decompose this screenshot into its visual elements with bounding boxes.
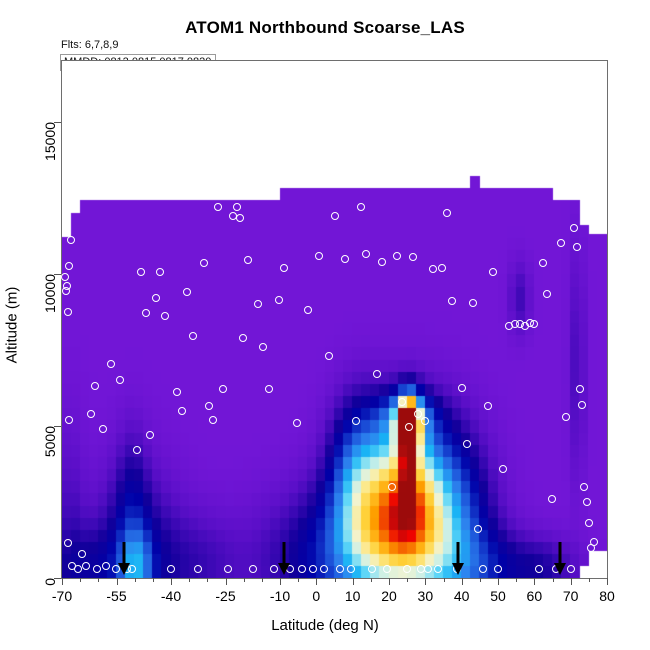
x-axis-tick-label: 30 (418, 588, 434, 604)
x-axis-minor-tick (80, 578, 81, 582)
y-axis-tick-label: 10000 (42, 274, 58, 313)
x-axis-tick-label: 60 (527, 588, 543, 604)
x-axis-tick-label: 80 (599, 588, 615, 604)
x-axis-minor-tick (189, 578, 190, 582)
x-axis-tick-label: -55 (106, 588, 126, 604)
x-axis-tick-label: -10 (270, 588, 290, 604)
x-axis-tick (226, 578, 227, 585)
x-axis-tick (353, 578, 354, 585)
x-axis-tick (571, 578, 572, 585)
heatmap-plot-area[interactable] (61, 60, 608, 579)
x-axis-minor-tick (298, 578, 299, 582)
x-axis-tick (425, 578, 426, 585)
profile-arrow-icon (277, 542, 290, 581)
x-axis-tick-label: -40 (161, 588, 181, 604)
x-axis-minor-tick (98, 578, 99, 582)
y-axis-tick-label: 0 (42, 578, 58, 586)
x-axis-tick-label: 70 (563, 588, 579, 604)
x-axis-minor-tick (207, 578, 208, 582)
x-axis-tick-label: 40 (454, 588, 470, 604)
x-axis-tick-label: -70 (52, 588, 72, 604)
x-axis-minor-tick (516, 578, 517, 582)
x-axis-tick-label: 20 (381, 588, 397, 604)
x-axis-minor-tick (335, 578, 336, 582)
x-axis-minor-tick (444, 578, 445, 582)
x-axis-tick (607, 578, 608, 585)
flights-annotation: Flts: 6,7,8,9 (61, 39, 118, 51)
y-axis-title: Altitude (m) (4, 287, 21, 364)
x-axis-tick (389, 578, 390, 585)
heatmap-canvas (62, 61, 607, 578)
x-axis-tick-label: -25 (215, 588, 235, 604)
x-axis-minor-tick (371, 578, 372, 582)
x-axis-tick (498, 578, 499, 585)
page-title: ATOM1 Northbound Scoarse_LAS (0, 18, 650, 38)
x-axis-minor-tick (262, 578, 263, 582)
x-axis-tick (171, 578, 172, 585)
x-axis-tick (534, 578, 535, 585)
profile-arrow-icon (117, 542, 130, 581)
profile-arrow-icon (553, 542, 566, 581)
x-axis-minor-tick (244, 578, 245, 582)
x-axis-minor-tick (407, 578, 408, 582)
x-axis-tick-label: 50 (490, 588, 506, 604)
y-axis-tick-label: 15000 (42, 122, 58, 161)
figure-root: ATOM1 Northbound Scoarse_LAS Flts: 6,7,8… (0, 0, 650, 650)
x-axis-minor-tick (480, 578, 481, 582)
y-axis-tick-label: 5000 (42, 426, 58, 457)
profile-arrow-icon (452, 542, 465, 581)
x-axis-minor-tick (135, 578, 136, 582)
x-axis-tick (316, 578, 317, 585)
x-axis-tick-label: 0 (312, 588, 320, 604)
x-axis-tick (62, 578, 63, 585)
x-axis-tick-label: 10 (345, 588, 361, 604)
x-axis-title: Latitude (deg N) (0, 617, 650, 634)
x-axis-minor-tick (153, 578, 154, 582)
x-axis-minor-tick (589, 578, 590, 582)
